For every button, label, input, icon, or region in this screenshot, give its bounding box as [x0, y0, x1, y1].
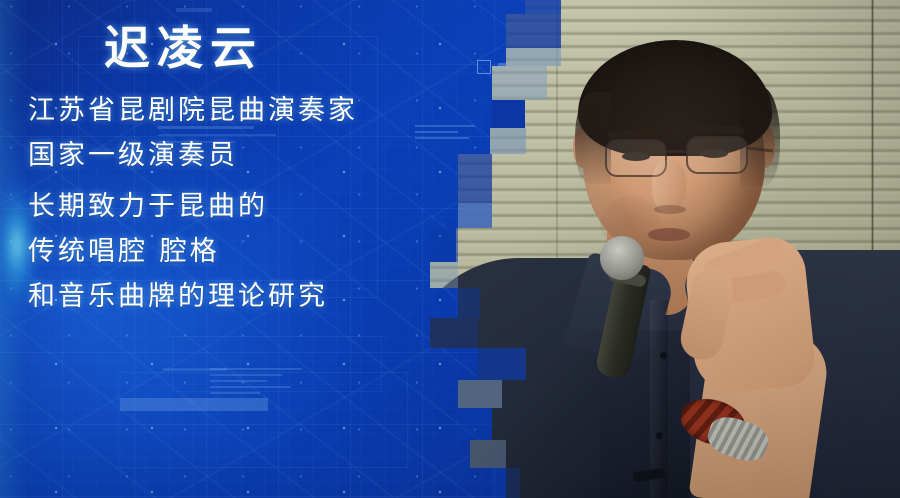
- credential-line-3: 长期致力于昆曲的: [28, 184, 268, 223]
- credential-line-4: 传统唱腔 腔格: [28, 229, 220, 268]
- credential-line-1: 江苏省昆剧院昆曲演奏家: [28, 88, 358, 127]
- video-frame: 迟凌云 江苏省昆剧院昆曲演奏家 国家一级演奏员 长期致力于昆曲的 传统唱腔 腔格…: [0, 0, 900, 498]
- speaker-name-title: 迟凌云: [104, 12, 263, 78]
- credential-line-2: 国家一级演奏员: [28, 133, 238, 172]
- credential-line-5: 和音乐曲牌的理论研究: [28, 274, 328, 313]
- overlay-text-group: 迟凌云 江苏省昆剧院昆曲演奏家 国家一级演奏员 长期致力于昆曲的 传统唱腔 腔格…: [0, 0, 560, 498]
